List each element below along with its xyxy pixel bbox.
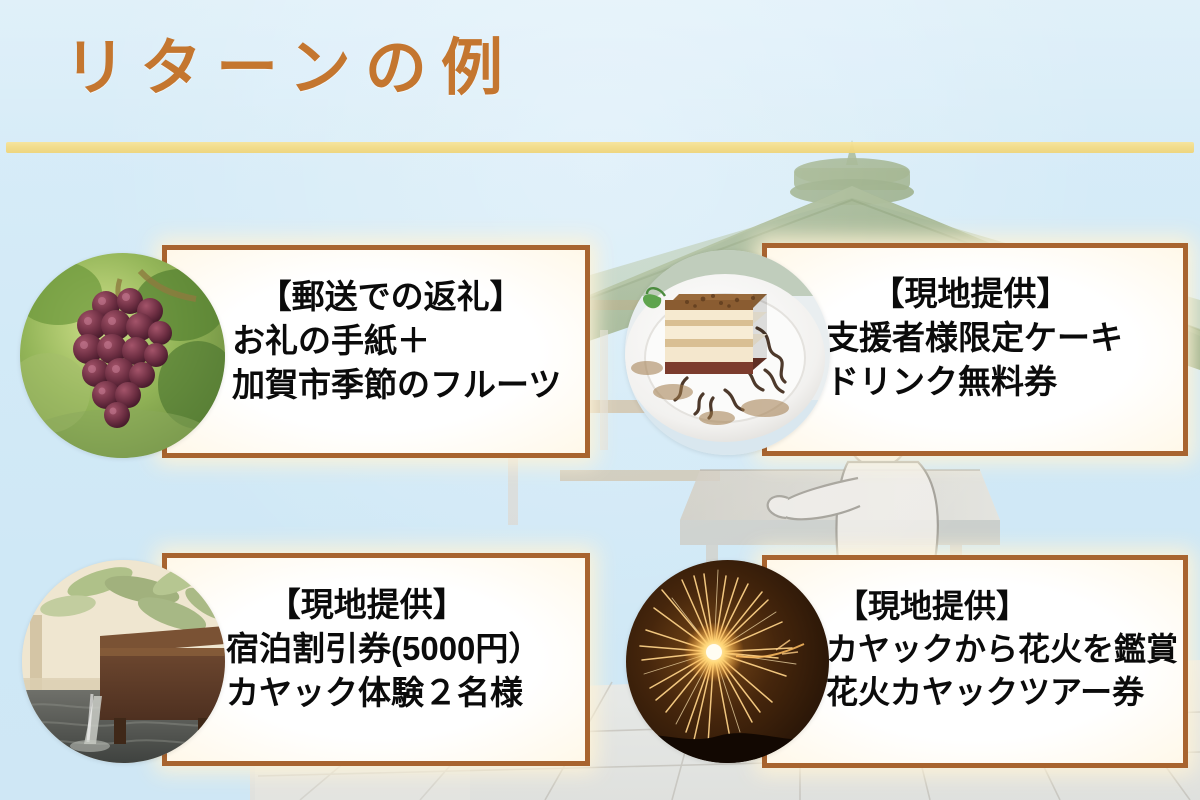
card-4-text: 【現地提供】 カヤックから花火を鑑賞 花火カヤックツアー券	[826, 585, 1178, 714]
card-4-line-2: カヤックから花火を鑑賞	[826, 628, 1178, 671]
page-title: リターンの例	[64, 38, 517, 100]
card-4-line-1: 【現地提供】	[826, 585, 1178, 628]
card-2-line-3: ドリンク無料券	[826, 360, 1123, 404]
card-3-line-2: 宿泊割引券(5000円）	[226, 627, 541, 671]
card-3-text: 【現地提供】 宿泊割引券(5000円） カヤック体験２名様	[226, 583, 541, 716]
title-divider	[6, 142, 1194, 153]
card-1-line-1: 【郵送での返礼】	[232, 275, 561, 319]
card-3-line-3: カヤック体験２名様	[226, 671, 541, 715]
card-1-text: 【郵送での返礼】 お礼の手紙＋ 加賀市季節のフルーツ	[232, 275, 561, 408]
onsen-bath-photo	[22, 560, 225, 763]
tiramisu-cake-photo	[625, 250, 830, 455]
fireworks-photo	[626, 560, 829, 763]
grapes-photo	[20, 253, 225, 458]
card-4-line-3: 花火カヤックツアー券	[826, 671, 1178, 714]
return-examples-poster: リターンの例 【郵送での返礼】 お礼の手紙＋ 加賀市季節のフルーツ 【現地提供】…	[0, 0, 1200, 800]
card-2-line-1: 【現地提供】	[826, 272, 1123, 316]
card-2-text: 【現地提供】 支援者様限定ケーキ ドリンク無料券	[826, 272, 1123, 405]
card-1-line-2: お礼の手紙＋	[232, 319, 561, 363]
card-3-line-1: 【現地提供】	[226, 583, 541, 627]
card-1-line-3: 加賀市季節のフルーツ	[232, 363, 561, 407]
card-2-line-2: 支援者様限定ケーキ	[826, 316, 1123, 360]
